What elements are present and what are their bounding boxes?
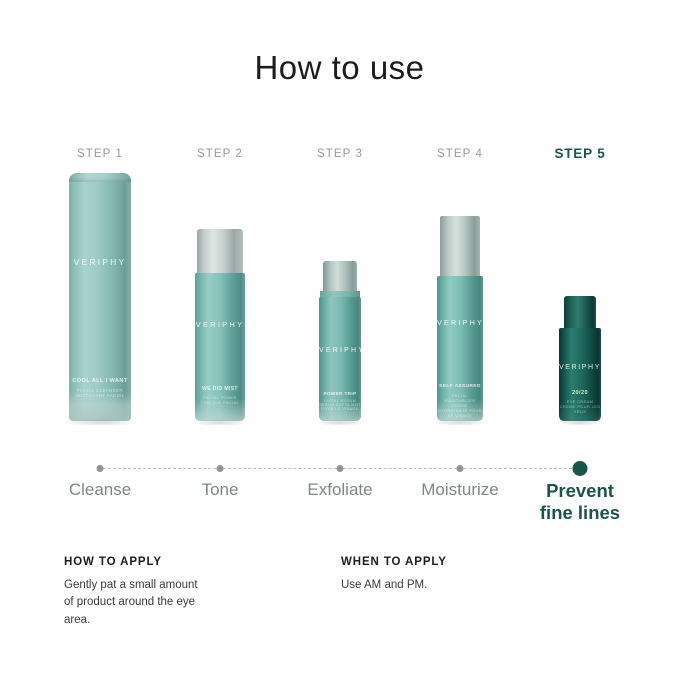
note-body-how: Gently pat a small amount of product aro… bbox=[64, 577, 199, 629]
product-stage-2: VERIPHY WE DID MIST FACIAL TONER TONIQUE… bbox=[160, 161, 280, 421]
timeline-dot-3 bbox=[337, 465, 344, 472]
product-name-1: COOL ALL I WANT bbox=[69, 378, 131, 384]
product-descriptor-3: FACIAL SERUM SERUM EXFOLIANT POUR LE VIS… bbox=[319, 399, 361, 411]
product-shadow-2 bbox=[191, 419, 249, 426]
timeline-node-4[interactable] bbox=[400, 462, 520, 478]
timeline-node-1[interactable] bbox=[40, 462, 160, 478]
bottle-cap-3 bbox=[323, 261, 357, 294]
product-brand-1: VERIPHY bbox=[69, 257, 131, 267]
product-descriptor-5: EYE CREAM CREME POUR LES YEUX bbox=[559, 399, 601, 414]
step-column-1: STEP 1 VERIPHY COOL ALL I WANT FACIAL CL… bbox=[40, 140, 160, 440]
step-name-exfoliate[interactable]: Exfoliate bbox=[280, 480, 400, 524]
product-shadow-1 bbox=[64, 419, 136, 426]
timeline-dot-1 bbox=[97, 465, 104, 472]
step-column-5: STEP 5 VERIPHY 20/20 EYE CREAM CREME POU… bbox=[520, 140, 640, 440]
product-stage-1: VERIPHY COOL ALL I WANT FACIAL CLEANSER … bbox=[40, 161, 160, 421]
timeline-dot-4 bbox=[457, 465, 464, 472]
timeline-dot-2 bbox=[217, 465, 224, 472]
product-brand-3: VERIPHY bbox=[319, 347, 361, 354]
product-brand-4: VERIPHY bbox=[437, 318, 483, 327]
bottle-body-4: VERIPHY SELF ASSURED FACIAL MOISTURIZER … bbox=[437, 276, 483, 421]
product-name-5: 20/20 bbox=[559, 390, 601, 396]
product-cleanser-tube[interactable]: VERIPHY COOL ALL I WANT FACIAL CLEANSER … bbox=[69, 173, 131, 421]
product-name-3: POWER TRIP bbox=[319, 391, 361, 396]
product-descriptor-2: FACIAL TONER TONIQUE FACIAL bbox=[195, 395, 245, 405]
step-label-3: STEP 3 bbox=[280, 148, 400, 160]
product-stage-3: VERIPHY POWER TRIP FACIAL SERUM SERUM EX… bbox=[280, 161, 400, 421]
apply-notes: HOW TO APPLY Gently pat a small amount o… bbox=[64, 556, 624, 629]
timeline-node-2[interactable] bbox=[160, 462, 280, 478]
timeline-node-5[interactable] bbox=[520, 462, 640, 478]
step-name-line-1: Prevent bbox=[546, 480, 614, 501]
product-descriptor-1: FACIAL CLEANSER NETTOYANT FACIAL bbox=[69, 388, 131, 398]
step-label-5: STEP 5 bbox=[520, 146, 640, 161]
steps-row: STEP 1 VERIPHY COOL ALL I WANT FACIAL CL… bbox=[40, 140, 640, 440]
product-brand-2: VERIPHY bbox=[195, 320, 245, 329]
step-name-cleanse[interactable]: Cleanse bbox=[40, 480, 160, 524]
product-name-2: WE DID MIST bbox=[195, 386, 245, 392]
bottle-pump-cap-4 bbox=[440, 216, 480, 278]
product-name-4: SELF ASSURED bbox=[437, 384, 483, 389]
timeline-dot-5-active bbox=[573, 461, 588, 476]
product-shadow-5 bbox=[556, 419, 604, 426]
note-when-to-apply: WHEN TO APPLY Use AM and PM. bbox=[341, 556, 561, 629]
product-stage-5: VERIPHY 20/20 EYE CREAM CREME POUR LES Y… bbox=[520, 161, 640, 421]
page-title: How to use bbox=[0, 50, 679, 86]
note-heading-how: HOW TO APPLY bbox=[64, 556, 284, 568]
step-name-tone[interactable]: Tone bbox=[160, 480, 280, 524]
step-names-row: Cleanse Tone Exfoliate Moisturize Preven… bbox=[40, 480, 640, 524]
product-stage-4: VERIPHY SELF ASSURED FACIAL MOISTURIZER … bbox=[400, 161, 520, 421]
note-body-when: Use AM and PM. bbox=[341, 577, 476, 594]
step-name-line-2: fine lines bbox=[540, 502, 620, 523]
product-toner-bottle[interactable]: VERIPHY WE DID MIST FACIAL TONER TONIQUE… bbox=[195, 229, 245, 421]
timeline-node-3[interactable] bbox=[280, 462, 400, 478]
step-label-1: STEP 1 bbox=[40, 148, 160, 160]
product-shadow-3 bbox=[315, 419, 365, 426]
step-label-4: STEP 4 bbox=[400, 148, 520, 160]
step-column-3: STEP 3 VERIPHY POWER TRIP FACIAL SERUM S… bbox=[280, 140, 400, 440]
product-descriptor-4: FACIAL MOISTURIZER CREME HYDRATANTE POUR… bbox=[437, 393, 483, 418]
bottle-body-2: VERIPHY WE DID MIST FACIAL TONER TONIQUE… bbox=[195, 273, 245, 421]
step-label-2: STEP 2 bbox=[160, 148, 280, 160]
step-column-4: STEP 4 VERIPHY SELF ASSURED FACIAL MOIST… bbox=[400, 140, 520, 440]
jar-body-5: VERIPHY 20/20 EYE CREAM CREME POUR LES Y… bbox=[559, 328, 601, 421]
product-exfoliant-bottle[interactable]: VERIPHY POWER TRIP FACIAL SERUM SERUM EX… bbox=[319, 261, 361, 421]
product-eye-cream-jar[interactable]: VERIPHY 20/20 EYE CREAM CREME POUR LES Y… bbox=[559, 296, 601, 421]
note-how-to-apply: HOW TO APPLY Gently pat a small amount o… bbox=[64, 556, 284, 629]
progress-timeline bbox=[40, 462, 640, 478]
product-moisturizer-bottle[interactable]: VERIPHY SELF ASSURED FACIAL MOISTURIZER … bbox=[437, 216, 483, 421]
step-name-moisturize[interactable]: Moisturize bbox=[400, 480, 520, 524]
tube-seal bbox=[69, 173, 131, 182]
bottle-body-3: VERIPHY POWER TRIP FACIAL SERUM SERUM EX… bbox=[319, 297, 361, 421]
product-shadow-4 bbox=[433, 419, 487, 426]
product-brand-5: VERIPHY bbox=[559, 364, 601, 371]
bottle-cap-2 bbox=[197, 229, 243, 275]
tube-body: VERIPHY COOL ALL I WANT FACIAL CLEANSER … bbox=[69, 173, 131, 421]
jar-cap-5 bbox=[564, 296, 596, 330]
step-column-2: STEP 2 VERIPHY WE DID MIST FACIAL TONER … bbox=[160, 140, 280, 440]
step-name-prevent-fine-lines[interactable]: Prevent fine lines bbox=[520, 480, 640, 524]
note-heading-when: WHEN TO APPLY bbox=[341, 556, 561, 568]
